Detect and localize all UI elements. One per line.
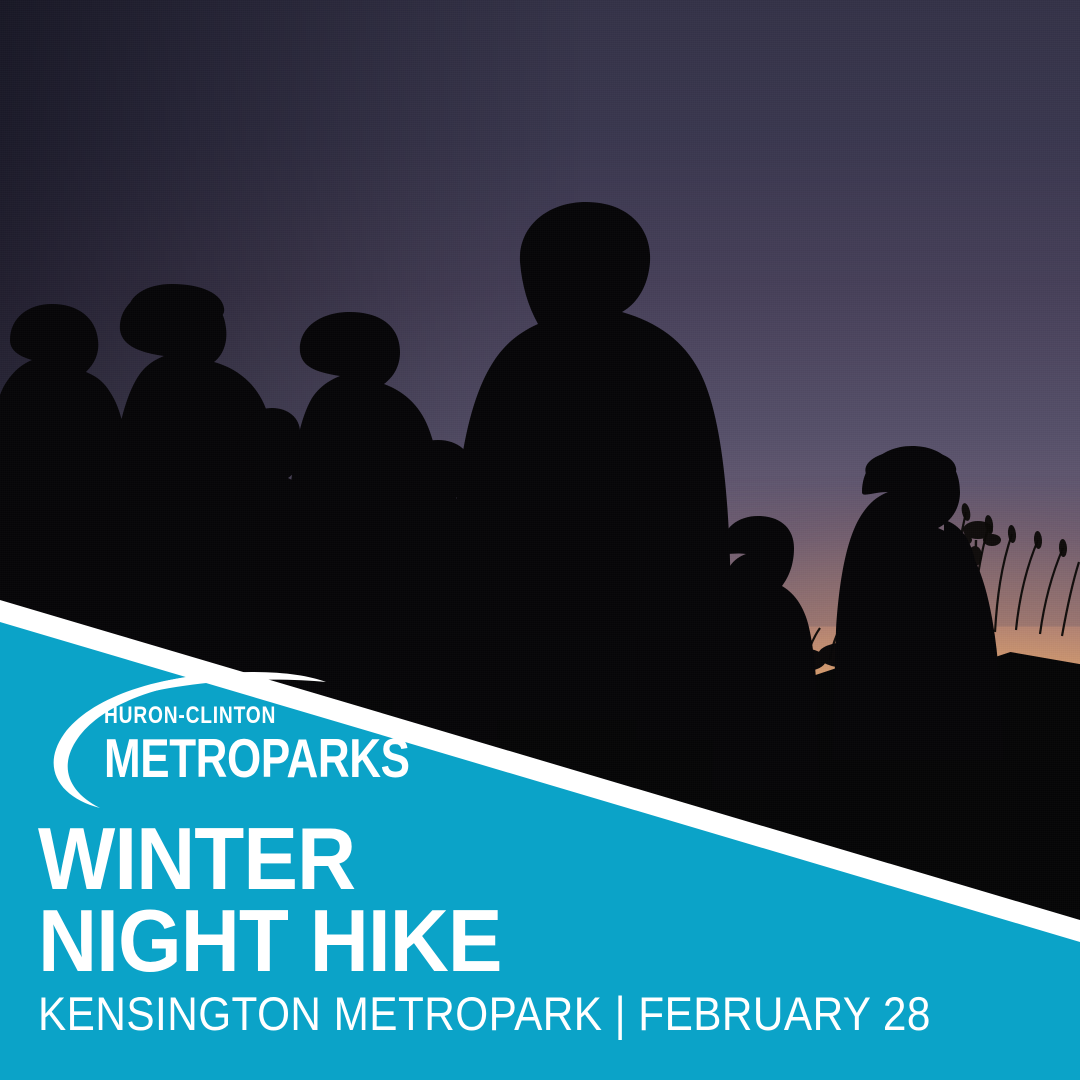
headline-line-1: WINTER (38, 818, 502, 900)
page-title: WINTER NIGHT HIKE (38, 818, 502, 982)
logo-line-2: METROPARKS (104, 732, 410, 785)
event-poster: HURON-CLINTON METROPARKS WINTER NIGHT HI… (0, 0, 1080, 1080)
event-location-and-date: KENSINGTON METROPARK | FEBRUARY 28 (38, 990, 931, 1037)
headline-line-2: NIGHT HIKE (38, 900, 502, 982)
brand-logo[interactable]: HURON-CLINTON METROPARKS (38, 668, 338, 808)
logo-line-1: HURON-CLINTON (104, 704, 410, 728)
logo-wordmark: HURON-CLINTON METROPARKS (104, 704, 486, 785)
